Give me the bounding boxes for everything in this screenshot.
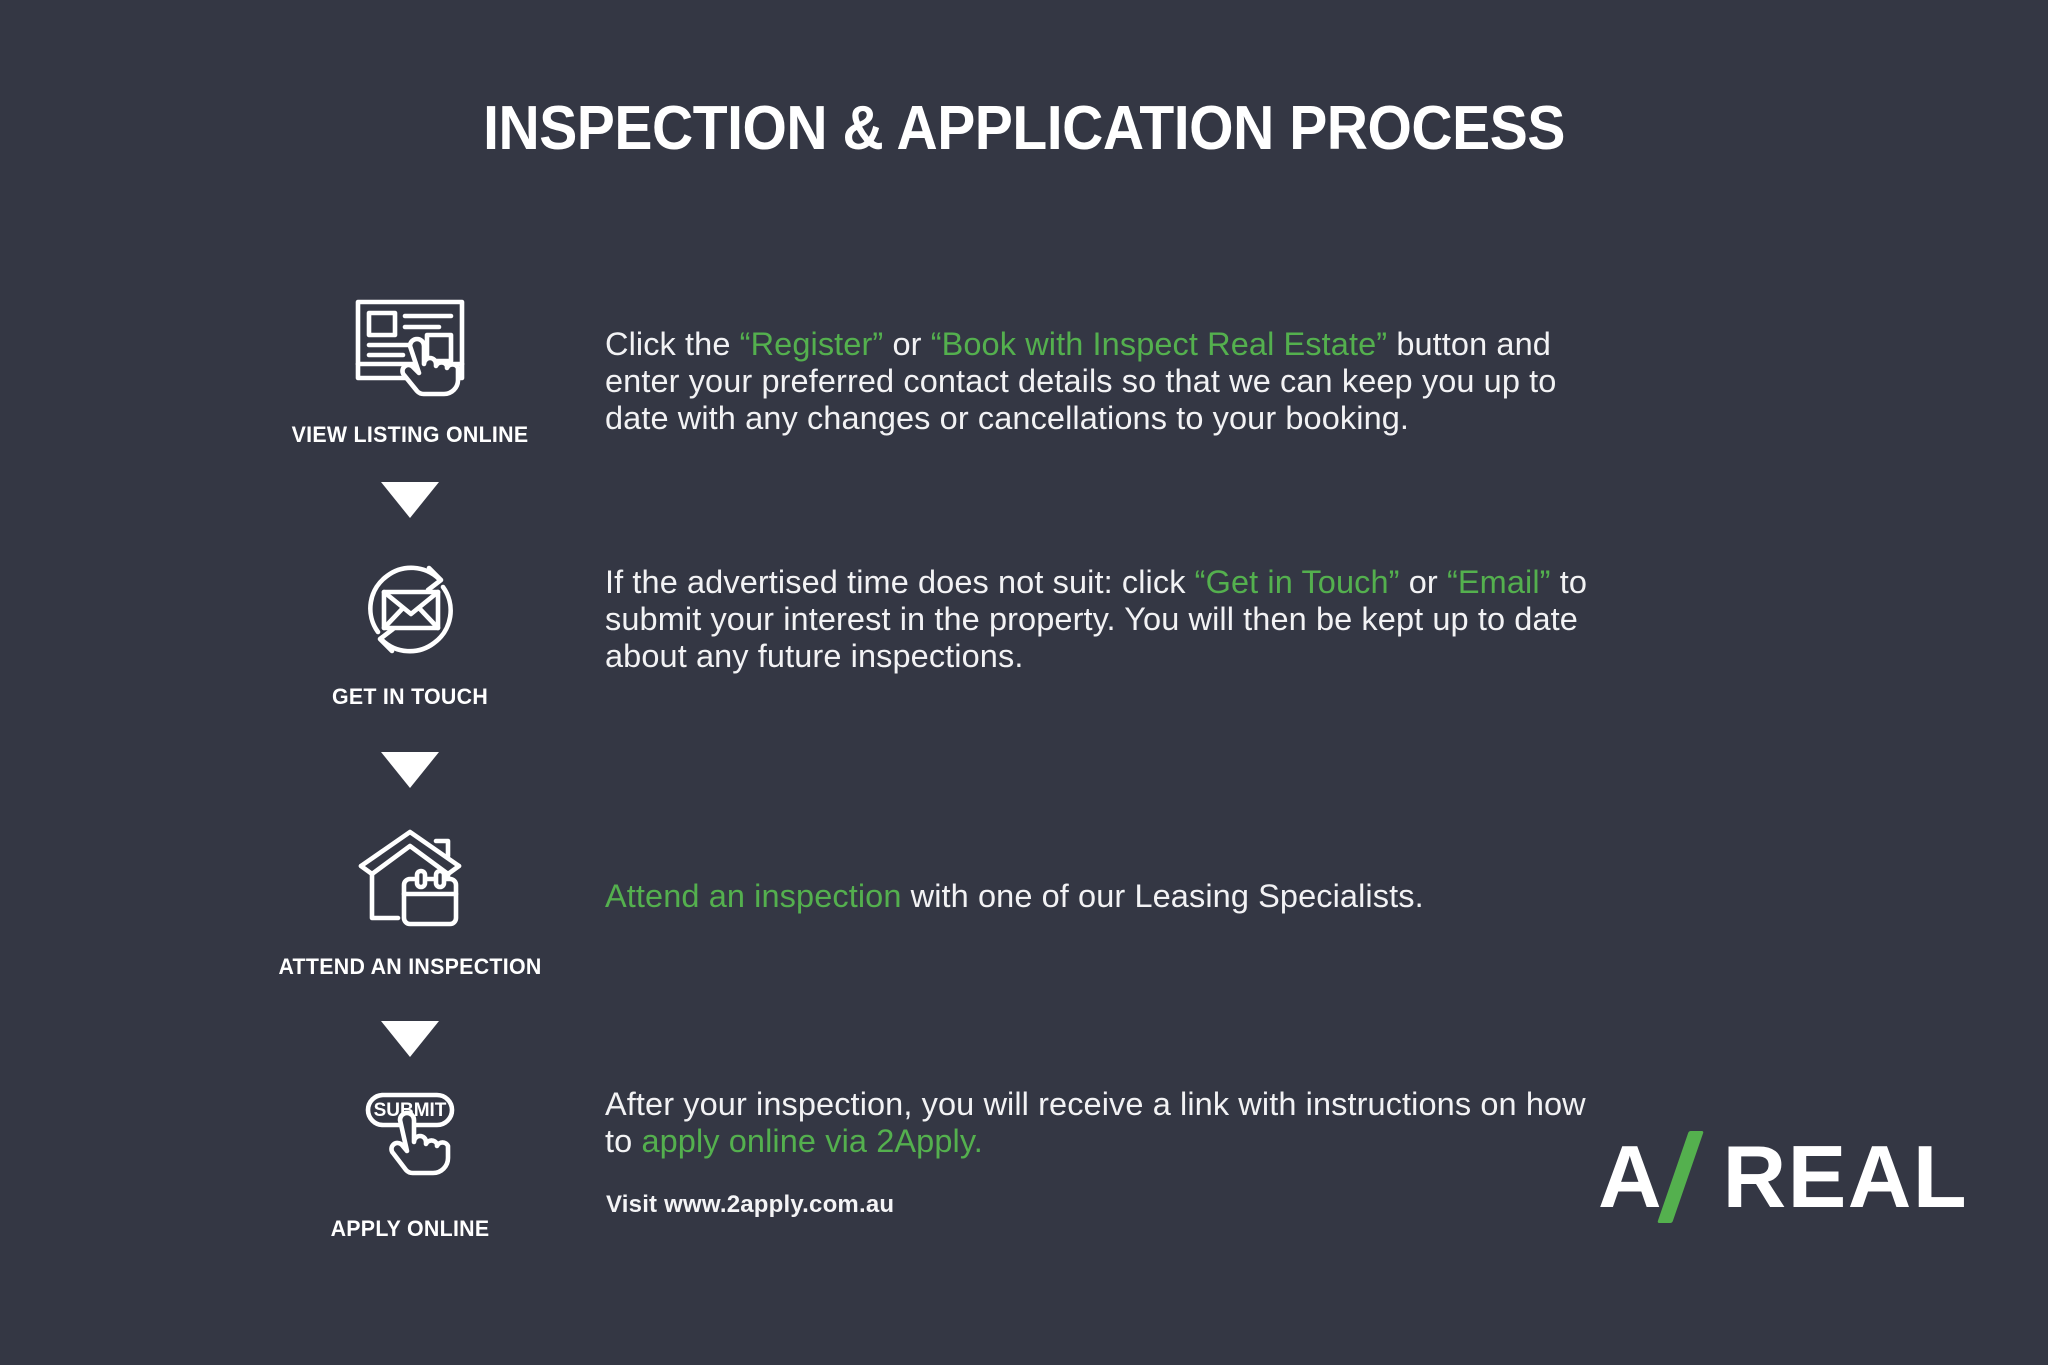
- step-3-label: ATTEND AN INSPECTION: [245, 954, 575, 980]
- flow-arrow-3: [381, 1021, 439, 1057]
- step-1-icon-column: VIEW LISTING ONLINE: [240, 288, 580, 448]
- logo-letter-a: A: [1598, 1133, 1661, 1221]
- step-1-seg-4: “Book with Inspect Real Estate”: [931, 326, 1388, 362]
- step-2-body: If the advertised time does not suit: cl…: [605, 564, 1615, 675]
- step-2-label: GET IN TOUCH: [245, 684, 575, 710]
- submit-button-pointer-icon: SUBMIT: [240, 1082, 580, 1202]
- envelope-refresh-icon: [240, 550, 580, 670]
- step-3-icon-column: ATTEND AN INSPECTION: [240, 820, 580, 980]
- step-2-seg-4: “Email”: [1447, 564, 1551, 600]
- step-1-seg-3: or: [883, 326, 930, 362]
- step-4-icon-column: SUBMIT APPLY ONLINE: [240, 1082, 580, 1242]
- step-3-seg-1: Attend an inspection: [605, 878, 902, 914]
- step-1-body: Click the “Register” or “Book with Inspe…: [605, 326, 1615, 437]
- step-1-seg-1: Click the: [605, 326, 740, 362]
- step-4-seg-2: apply online via 2Apply.: [641, 1123, 982, 1159]
- flow-arrow-2: [381, 752, 439, 788]
- step-2-seg-3: or: [1400, 564, 1447, 600]
- listing-window-pointer-icon: [240, 288, 580, 408]
- step-1-label: VIEW LISTING ONLINE: [245, 422, 575, 448]
- page-title: INSPECTION & APPLICATION PROCESS: [82, 93, 1966, 164]
- logo-word-real: REAL: [1723, 1133, 1969, 1221]
- step-2-seg-2: “Get in Touch”: [1195, 564, 1400, 600]
- house-calendar-icon: [240, 820, 580, 940]
- step-3-body: Attend an inspection with one of our Lea…: [605, 878, 1615, 915]
- step-2-seg-1: If the advertised time does not suit: cl…: [605, 564, 1195, 600]
- logo-slash-icon: [1661, 1133, 1723, 1221]
- flow-arrow-1: [381, 482, 439, 518]
- step-4-body: After your inspection, you will receive …: [605, 1086, 1615, 1160]
- step-1-seg-2: “Register”: [740, 326, 884, 362]
- areal-logo: A REAL: [1598, 1132, 1968, 1222]
- step-3-seg-2: with one of our Leasing Specialists.: [902, 878, 1424, 914]
- infographic-canvas: INSPECTION & APPLICATION PROCESS VIEW LI…: [0, 0, 2048, 1365]
- step-4-label: APPLY ONLINE: [245, 1216, 575, 1242]
- step-4-footnote: Visit www.2apply.com.au: [606, 1191, 894, 1219]
- step-2-icon-column: GET IN TOUCH: [240, 550, 580, 710]
